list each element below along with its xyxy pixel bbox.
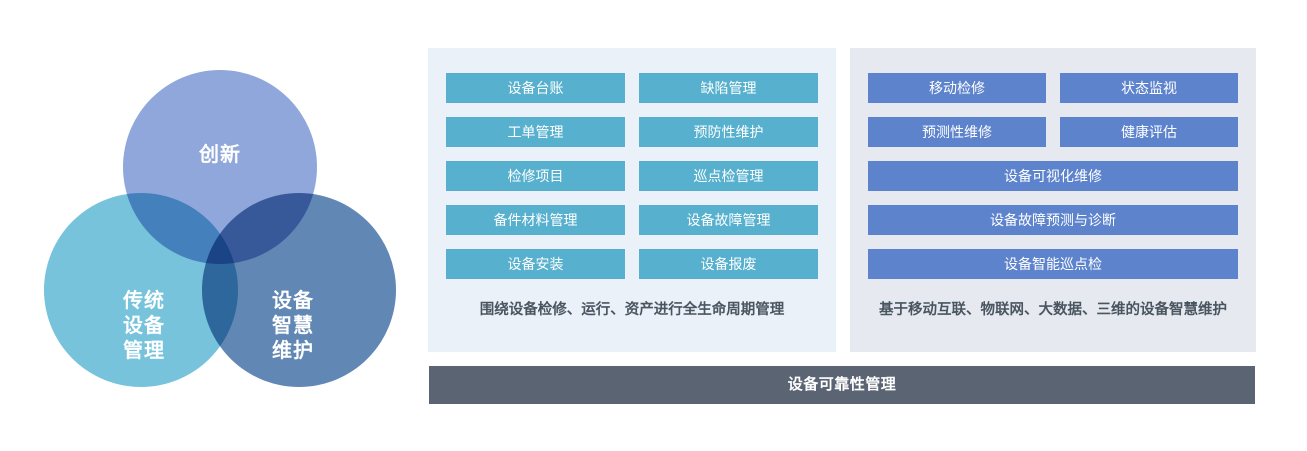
module-row: 设备智能巡点检 — [868, 249, 1238, 279]
module-cell[interactable]: 检修项目 — [446, 161, 625, 191]
module-row: 备件材料管理 设备故障管理 — [446, 205, 818, 235]
venn-label-innovation: 创新 — [170, 143, 270, 168]
venn-label-traditional-equipment-management: 传统 设备 管理 — [110, 289, 178, 364]
venn-diagram: 创新 传统 设备 管理 设备 智慧 维护 — [30, 60, 410, 390]
module-row: 检修项目 巡点检管理 — [446, 161, 818, 191]
traditional-equipment-management-panel: 设备台账 缺陷管理 工单管理 预防性维护 检修项目 巡点检管理 备件材料管理 设… — [428, 48, 836, 352]
module-cell[interactable]: 工单管理 — [446, 117, 625, 147]
module-row: 设备安装 设备报废 — [446, 249, 818, 279]
module-cell[interactable]: 设备智能巡点检 — [868, 249, 1238, 279]
module-row: 移动检修 状态监视 — [868, 73, 1238, 103]
module-row: 设备故障预测与诊断 — [868, 205, 1238, 235]
panel-caption: 围绕设备检修、运行、资产进行全生命周期管理 — [446, 299, 818, 322]
module-grid: 设备台账 缺陷管理 工单管理 预防性维护 检修项目 巡点检管理 备件材料管理 设… — [446, 73, 818, 279]
diagram-canvas: 创新 传统 设备 管理 设备 智慧 维护 设备台账 缺陷管理 工单管理 预防性维… — [0, 0, 1307, 451]
reliability-management-banner: 设备可靠性管理 — [429, 366, 1255, 404]
module-cell[interactable]: 设备可视化维修 — [868, 161, 1238, 191]
module-row: 工单管理 预防性维护 — [446, 117, 818, 147]
smart-maintenance-panel: 移动检修 状态监视 预测性维修 健康评估 设备可视化维修 设备故障预测与诊断 设… — [850, 48, 1256, 352]
module-row: 预测性维修 健康评估 — [868, 117, 1238, 147]
module-cell[interactable]: 设备报废 — [639, 249, 818, 279]
module-cell[interactable]: 备件材料管理 — [446, 205, 625, 235]
module-row: 设备可视化维修 — [868, 161, 1238, 191]
module-grid: 移动检修 状态监视 预测性维修 健康评估 设备可视化维修 设备故障预测与诊断 设… — [868, 73, 1238, 279]
module-cell[interactable]: 状态监视 — [1060, 73, 1238, 103]
module-cell[interactable]: 设备故障预测与诊断 — [868, 205, 1238, 235]
module-cell[interactable]: 设备故障管理 — [639, 205, 818, 235]
venn-label-equipment-smart-maintenance: 设备 智慧 维护 — [259, 289, 327, 364]
module-cell[interactable]: 移动检修 — [868, 73, 1046, 103]
module-cell[interactable]: 设备安装 — [446, 249, 625, 279]
module-row: 设备台账 缺陷管理 — [446, 73, 818, 103]
module-cell[interactable]: 健康评估 — [1060, 117, 1238, 147]
module-cell[interactable]: 预防性维护 — [639, 117, 818, 147]
module-cell[interactable]: 预测性维修 — [868, 117, 1046, 147]
module-cell[interactable]: 缺陷管理 — [639, 73, 818, 103]
module-cell[interactable]: 巡点检管理 — [639, 161, 818, 191]
module-cell[interactable]: 设备台账 — [446, 73, 625, 103]
panel-caption: 基于移动互联、物联网、大数据、三维的设备智慧维护 — [868, 299, 1238, 322]
